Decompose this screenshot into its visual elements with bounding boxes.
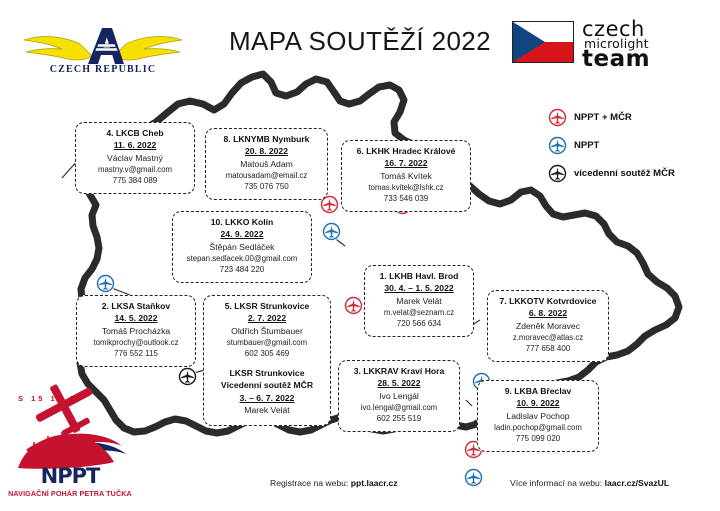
event-box-kolin[interactable]: 10. LKKO Kolín 24. 9. 2022 Štěpán Sedláč… bbox=[172, 211, 312, 283]
event-title: 1. LKHB Havl. Brod bbox=[371, 271, 467, 282]
event-email: tomikprochy@outlook.cz bbox=[83, 338, 189, 348]
event-title: 3. LKKRAV Kraví Hora bbox=[345, 366, 453, 377]
nppt-tagline: NAVIGAČNÍ POHÁR PETRA TUČKA bbox=[4, 489, 136, 498]
footer-registration: Registrace na webu: ppt.laacr.cz bbox=[270, 478, 398, 488]
event-phone: 775 099 020 bbox=[484, 434, 592, 445]
event-date: 2. 7. 2022 bbox=[210, 313, 324, 324]
event-contact: Zdeněk Moravec bbox=[494, 321, 602, 332]
event-date: 14. 5. 2022 bbox=[83, 313, 189, 324]
event-email: tomas.kvitek@lshk.cz bbox=[348, 183, 464, 193]
event-date: 20. 8. 2022 bbox=[212, 146, 321, 157]
event-contact: Ladislav Pochop bbox=[484, 411, 592, 422]
event-contact: Ivo Lengál bbox=[345, 391, 453, 402]
event-sub-contact: Marek Velát bbox=[210, 405, 324, 416]
event-title: 6. LKHK Hradec Králové bbox=[348, 146, 464, 157]
event-phone: 602 255 519 bbox=[345, 414, 453, 425]
footer-info: Více informací na webu: laacr.cz/SvazUL bbox=[510, 478, 669, 488]
marker-kolin[interactable] bbox=[322, 222, 341, 241]
event-date: 24. 9. 2022 bbox=[179, 229, 305, 240]
event-email: stepan.sedlacek.00@gmail.com bbox=[179, 254, 305, 264]
event-phone: 720 566 634 bbox=[371, 319, 467, 330]
event-title: 5. LKSR Strunkovice bbox=[210, 301, 324, 312]
event-title: 9. LKBA Břeclav bbox=[484, 386, 592, 397]
event-sub-date: 3. – 6. 7. 2022 bbox=[210, 393, 324, 404]
event-contact: Oldřich Štumbauer bbox=[210, 326, 324, 337]
event-contact: Marek Velát bbox=[371, 296, 467, 307]
marker-stankov[interactable] bbox=[96, 274, 115, 293]
event-title: 10. LKKO Kolín bbox=[179, 217, 305, 228]
event-date: 6. 8. 2022 bbox=[494, 308, 602, 319]
event-email: ivo.lengal@gmail.com bbox=[345, 403, 453, 413]
event-title: 2. LKSA Staňkov bbox=[83, 301, 189, 312]
event-phone: 602 305 469 bbox=[210, 349, 324, 360]
event-email: mastny.v@gmail.com bbox=[82, 165, 188, 175]
event-date: 28. 5. 2022 bbox=[345, 378, 453, 389]
nppt-acronym: NPPT bbox=[4, 464, 136, 488]
event-sub-kind: Vícedenní soutěž MČR bbox=[210, 380, 324, 391]
event-title: 7. LKKOTV Kotvrdovice bbox=[494, 296, 602, 307]
footer-registration-url[interactable]: ppt.laacr.cz bbox=[351, 478, 398, 488]
event-date: 30. 4. – 1. 5. 2022 bbox=[371, 283, 467, 294]
map-poster: MAPA SOUTĚŽÍ 2022 CZECH REPUBLIC czech m… bbox=[0, 0, 720, 511]
footer-registration-prefix: Registrace na webu: bbox=[270, 478, 348, 488]
marker-breclav[interactable] bbox=[464, 468, 483, 487]
event-box-nymburk[interactable]: 8. LKNYMB Nymburk 20. 8. 2022 Matouš Ada… bbox=[205, 128, 328, 200]
event-box-breclav[interactable]: 9. LKBA Břeclav 10. 9. 2022 Ladislav Poc… bbox=[477, 380, 599, 452]
event-title: 8. LKNYMB Nymburk bbox=[212, 134, 321, 145]
event-date: 10. 9. 2022 bbox=[484, 398, 592, 409]
event-phone: 777 658 400 bbox=[494, 344, 602, 355]
event-box-cheb[interactable]: 4. LKCB Cheb 11. 6. 2022 Václav Mastný m… bbox=[75, 122, 195, 194]
event-contact: Štěpán Sedláček bbox=[179, 242, 305, 253]
event-box-havlickuv-brod[interactable]: 1. LKHB Havl. Brod 30. 4. – 1. 5. 2022 M… bbox=[364, 265, 474, 337]
nppt-logo: S 15 12 E NPPT NAVIGAČNÍ POHÁR PETRA TUČ… bbox=[4, 372, 136, 504]
event-email: matousadam@email.cz bbox=[212, 171, 321, 181]
event-phone: 775 384 089 bbox=[82, 176, 188, 187]
event-box-strunkovice[interactable]: 5. LKSR Strunkovice 2. 7. 2022 Oldřich Š… bbox=[203, 295, 331, 426]
event-contact: Václav Mastný bbox=[82, 153, 188, 164]
event-box-kravi-hora[interactable]: 3. LKKRAV Kraví Hora 28. 5. 2022 Ivo Len… bbox=[338, 360, 460, 432]
event-email: z.moravec@atlas.cz bbox=[494, 333, 602, 343]
event-phone: 723 484 220 bbox=[179, 265, 305, 276]
footer-info-prefix: Více informací na webu: bbox=[510, 478, 602, 488]
nppt-coordinates: S 15 12 E bbox=[18, 394, 108, 403]
event-date: 16. 7. 2022 bbox=[348, 158, 464, 169]
event-phone: 735 076 750 bbox=[212, 182, 321, 193]
footer-info-url[interactable]: laacr.cz/SvazUL bbox=[605, 478, 670, 488]
event-email: m.velat@seznam.cz bbox=[371, 308, 467, 318]
marker-havlickuv-brod[interactable] bbox=[344, 296, 363, 315]
event-box-hradec-kralove[interactable]: 6. LKHK Hradec Králové 16. 7. 2022 Tomáš… bbox=[341, 140, 471, 212]
event-phone: 733 546 039 bbox=[348, 194, 464, 205]
event-date: 11. 6. 2022 bbox=[82, 140, 188, 151]
event-phone: 776 552 115 bbox=[83, 349, 189, 360]
event-contact: Tomáš Procházka bbox=[83, 326, 189, 337]
event-email: ladin.pochop@gmail.com bbox=[484, 423, 592, 433]
event-contact: Tomáš Kvítek bbox=[348, 171, 464, 182]
event-title: 4. LKCB Cheb bbox=[82, 128, 188, 139]
event-contact: Matouš Adam bbox=[212, 159, 321, 170]
event-box-kotvrdovice[interactable]: 7. LKKOTV Kotvrdovice 6. 8. 2022 Zdeněk … bbox=[487, 290, 609, 362]
event-box-stankov[interactable]: 2. LKSA Staňkov 14. 5. 2022 Tomáš Prochá… bbox=[76, 295, 196, 367]
marker-strunkovice[interactable] bbox=[178, 367, 197, 386]
event-email: stumbauer@gmail.com bbox=[210, 338, 324, 348]
event-sub-title: LKSR Strunkovice bbox=[210, 368, 324, 379]
